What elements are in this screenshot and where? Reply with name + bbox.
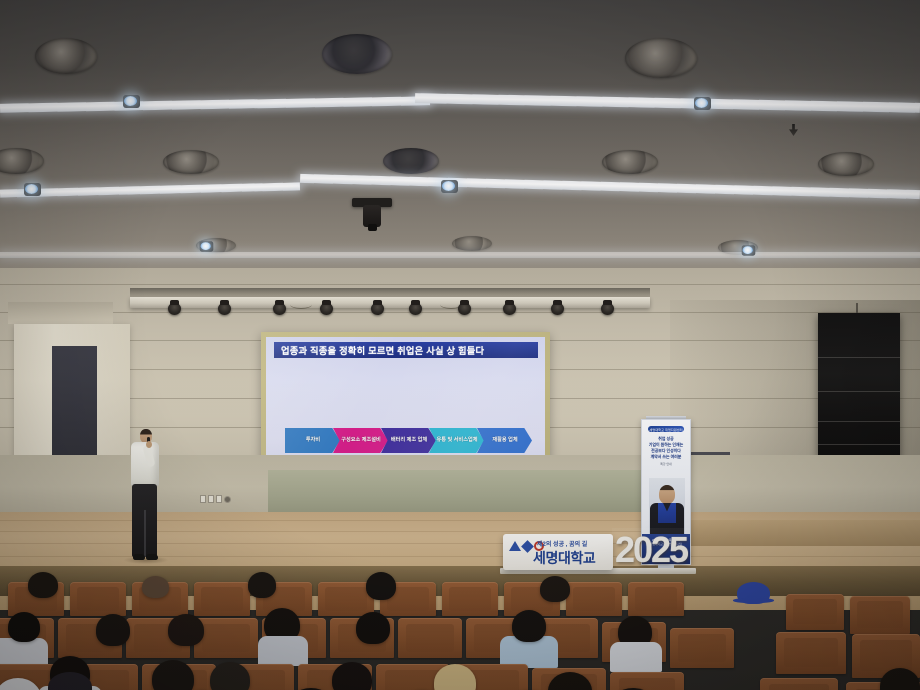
seat[interactable] <box>70 582 126 616</box>
audience-head <box>512 610 546 642</box>
stage-spotlight <box>601 303 614 315</box>
ceiling-spotlight <box>694 97 711 110</box>
seat[interactable] <box>566 582 622 616</box>
wall-switch-panel[interactable] <box>200 495 236 503</box>
banner-subtext: 특강 안내 <box>642 462 690 466</box>
ceiling-vent <box>163 150 219 174</box>
audience-shoulders <box>610 642 662 672</box>
ceiling-vent <box>383 148 439 174</box>
ceiling-vent <box>602 150 658 174</box>
wall-socket-icon[interactable] <box>224 496 231 503</box>
ceiling-vent <box>452 236 492 251</box>
process-step-label: 배터리 제조 업체 <box>386 437 431 444</box>
seat[interactable] <box>194 582 250 616</box>
ceiling-light-strip <box>0 252 920 258</box>
slide-title: 업종과 직종을 정확히 모르면 취업은 사실 상 힘들다 <box>274 343 484 357</box>
ceiling-spotlight <box>24 183 41 196</box>
ceiling-spotlight <box>742 245 756 255</box>
light-switch-icon[interactable] <box>200 495 206 503</box>
stage-spotlight <box>168 303 181 315</box>
audience-head <box>28 572 58 598</box>
stage-wall-band <box>268 470 688 512</box>
stage-spotlight <box>218 303 231 315</box>
stage-spotlight <box>458 303 471 315</box>
audience-shoulders <box>258 636 308 666</box>
triangle-icon <box>509 541 521 551</box>
audience-head <box>96 614 130 646</box>
audience-head <box>142 576 169 598</box>
audience-head <box>332 662 372 690</box>
presenter-shoe <box>146 554 158 560</box>
stage-riser <box>690 520 920 546</box>
portrait-head <box>659 485 675 504</box>
ceiling-spotlight <box>200 241 214 251</box>
seat[interactable] <box>850 596 910 634</box>
presenter-shoe <box>133 554 145 560</box>
audience-head <box>540 576 570 602</box>
process-step: 배터리 제조 업체 <box>381 428 436 453</box>
audience-head <box>152 660 194 690</box>
audience-head <box>356 612 390 644</box>
audience-head <box>168 614 204 646</box>
sprinkler-head-icon <box>789 124 798 136</box>
stage-spotlight <box>551 303 564 315</box>
audience-head <box>8 612 40 642</box>
light-switch-icon[interactable] <box>208 495 214 503</box>
panel-header <box>8 302 113 324</box>
audience-head <box>210 662 250 690</box>
presenter-leg-seam <box>144 510 146 557</box>
process-step: 투자비 <box>285 428 340 453</box>
process-step: 유통 및 서비스업체 <box>429 428 484 453</box>
process-step-label: 유통 및 서비스업체 <box>431 437 481 444</box>
process-step-label: 투자비 <box>301 437 324 444</box>
process-step-label: 재활용 업체 <box>487 437 521 444</box>
seat[interactable] <box>194 618 258 658</box>
ceiling-vent <box>625 38 697 78</box>
process-step: 구성요소 제조설비 <box>333 428 388 453</box>
ceiling-spotlight <box>441 180 458 193</box>
seat[interactable] <box>670 628 734 668</box>
ceiling <box>0 0 920 300</box>
ceiling-vent <box>0 148 44 174</box>
audience-seating <box>0 572 920 690</box>
seat[interactable] <box>628 582 684 616</box>
seat[interactable] <box>442 582 498 616</box>
stage-spotlight <box>371 303 384 315</box>
stage-spotlight <box>320 303 333 315</box>
process-chevron-row: 투자비 구성요소 제조설비 배터리 제조 업체 유통 및 서비스업체 재활용 업… <box>285 428 525 453</box>
light-switch-icon[interactable] <box>216 495 222 503</box>
seat[interactable] <box>760 678 838 690</box>
ceiling-vent <box>322 34 392 74</box>
seat[interactable] <box>398 618 462 658</box>
audience-head <box>248 572 276 598</box>
ceiling-spotlight <box>123 95 140 108</box>
audience-head <box>366 572 396 600</box>
baseball-cap <box>737 582 770 604</box>
ceiling-light-strip <box>415 93 920 113</box>
process-step: 재활용 업체 <box>477 428 532 453</box>
university-name: 세명대학교 <box>533 548 595 568</box>
ceiling-vent <box>35 38 97 74</box>
stage-spotlight <box>273 303 286 315</box>
seat[interactable] <box>786 594 844 630</box>
ceiling-light-strip <box>300 174 920 199</box>
seat[interactable] <box>776 632 846 674</box>
process-step-label: 구성요소 제조설비 <box>336 437 385 444</box>
ceiling-vent <box>818 152 874 176</box>
year-sign: 2025 <box>612 528 690 572</box>
diamond-icon <box>521 540 534 553</box>
university-sign: 제2의 성공 , 꿈의 길 세명대학교 <box>503 534 613 570</box>
presenter-hand <box>146 441 152 448</box>
light-cable <box>290 300 312 309</box>
university-tagline: 제2의 성공 , 꿈의 길 <box>537 539 587 548</box>
seat[interactable] <box>610 672 684 690</box>
line-array-speaker <box>818 313 900 463</box>
banner-badge: 세명대학교 취업지원센터 <box>648 426 684 432</box>
stage-light-beam <box>130 297 650 308</box>
stage-spotlight <box>503 303 516 315</box>
banner-badge-label: 세명대학교 취업지원센터 <box>649 427 682 432</box>
ceiling-light-strip <box>0 182 300 197</box>
stage-spotlight <box>409 303 422 315</box>
auditorium-photo: 업종과 직종을 정확히 모르면 취업은 사실 상 힘들다 투자비 구성요소 제조… <box>0 0 920 690</box>
ceiling-light-strip <box>0 96 430 113</box>
slide-title-bar: 업종과 직종을 정확히 모르면 취업은 사실 상 힘들다 <box>274 342 538 358</box>
projector-lens-icon <box>368 224 377 231</box>
banner-headline: 취업 성공 기업이 원하는 인재는 전공보다 인성이다 계약서 쓰는 여러분 <box>642 436 690 459</box>
